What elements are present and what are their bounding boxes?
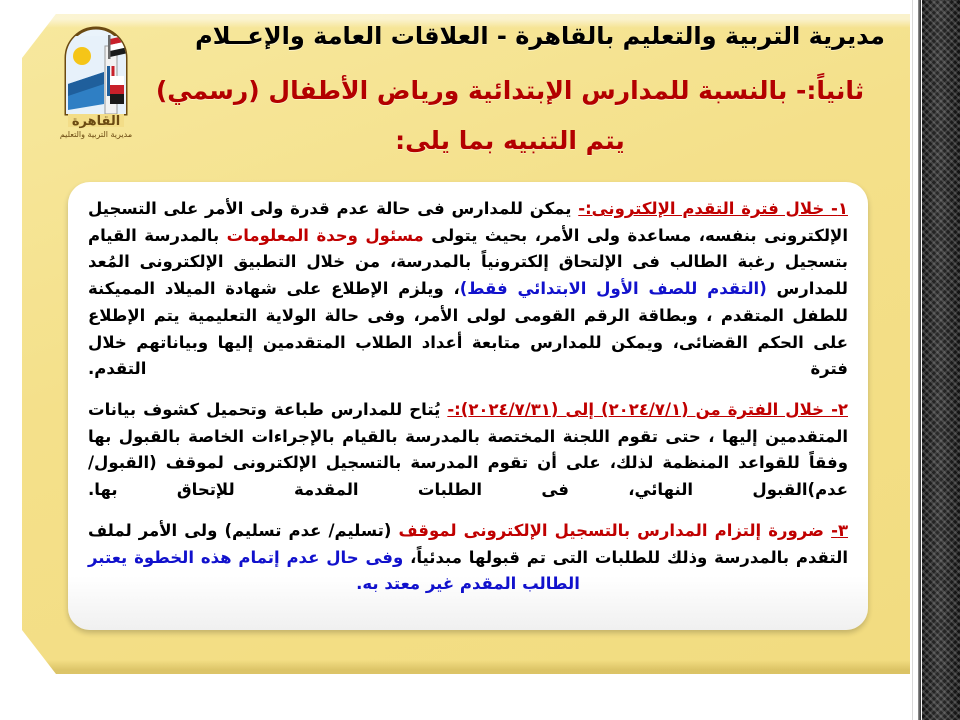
page-title: مديرية التربية والتعليم بالقاهرة - العلا…: [160, 22, 920, 50]
edge-divider-line: [918, 0, 921, 720]
text-run-0: ٢- خلال الفترة من (٢٠٢٤/٧/١) إلى (٢٠٢٤/٧…: [447, 400, 848, 419]
section-heading-secondly: ثانياً:- بالنسبة للمدارس الإبتدائية وريا…: [100, 76, 920, 105]
notice-content-card: ١- خلال فترة التقدم الإلكترونى:- يمكن لل…: [68, 182, 868, 630]
text-run-0: ١- خلال فترة التقدم الإلكترونى:-: [578, 199, 848, 218]
slide-root: القاهرة مديرية التربية والتعليم مديرية ا…: [0, 0, 960, 720]
text-run-0: ٣-: [831, 521, 848, 540]
edge-white-gap: [913, 0, 917, 720]
text-run-1: ضرورة إلتزام المدارس بالتسجيل الإلكترونى…: [391, 521, 831, 540]
section-heading-notice: يتم التنبيه بما يلى:: [100, 126, 920, 155]
text-run-4: (التقدم للصف الأول الابتدائي فقط): [460, 279, 767, 298]
notice-item-1: ١- خلال فترة التقدم الإلكترونى:- يمكن لل…: [88, 196, 848, 383]
text-run-2: مسئول وحدة المعلومات: [227, 226, 424, 245]
notice-item-3: ٣- ضرورة إلتزام المدارس بالتسجيل الإلكتر…: [88, 518, 848, 598]
right-edge-texture-strip: [922, 0, 960, 720]
notice-item-2: ٢- خلال الفترة من (٢٠٢٤/٧/١) إلى (٢٠٢٤/٧…: [88, 397, 848, 504]
